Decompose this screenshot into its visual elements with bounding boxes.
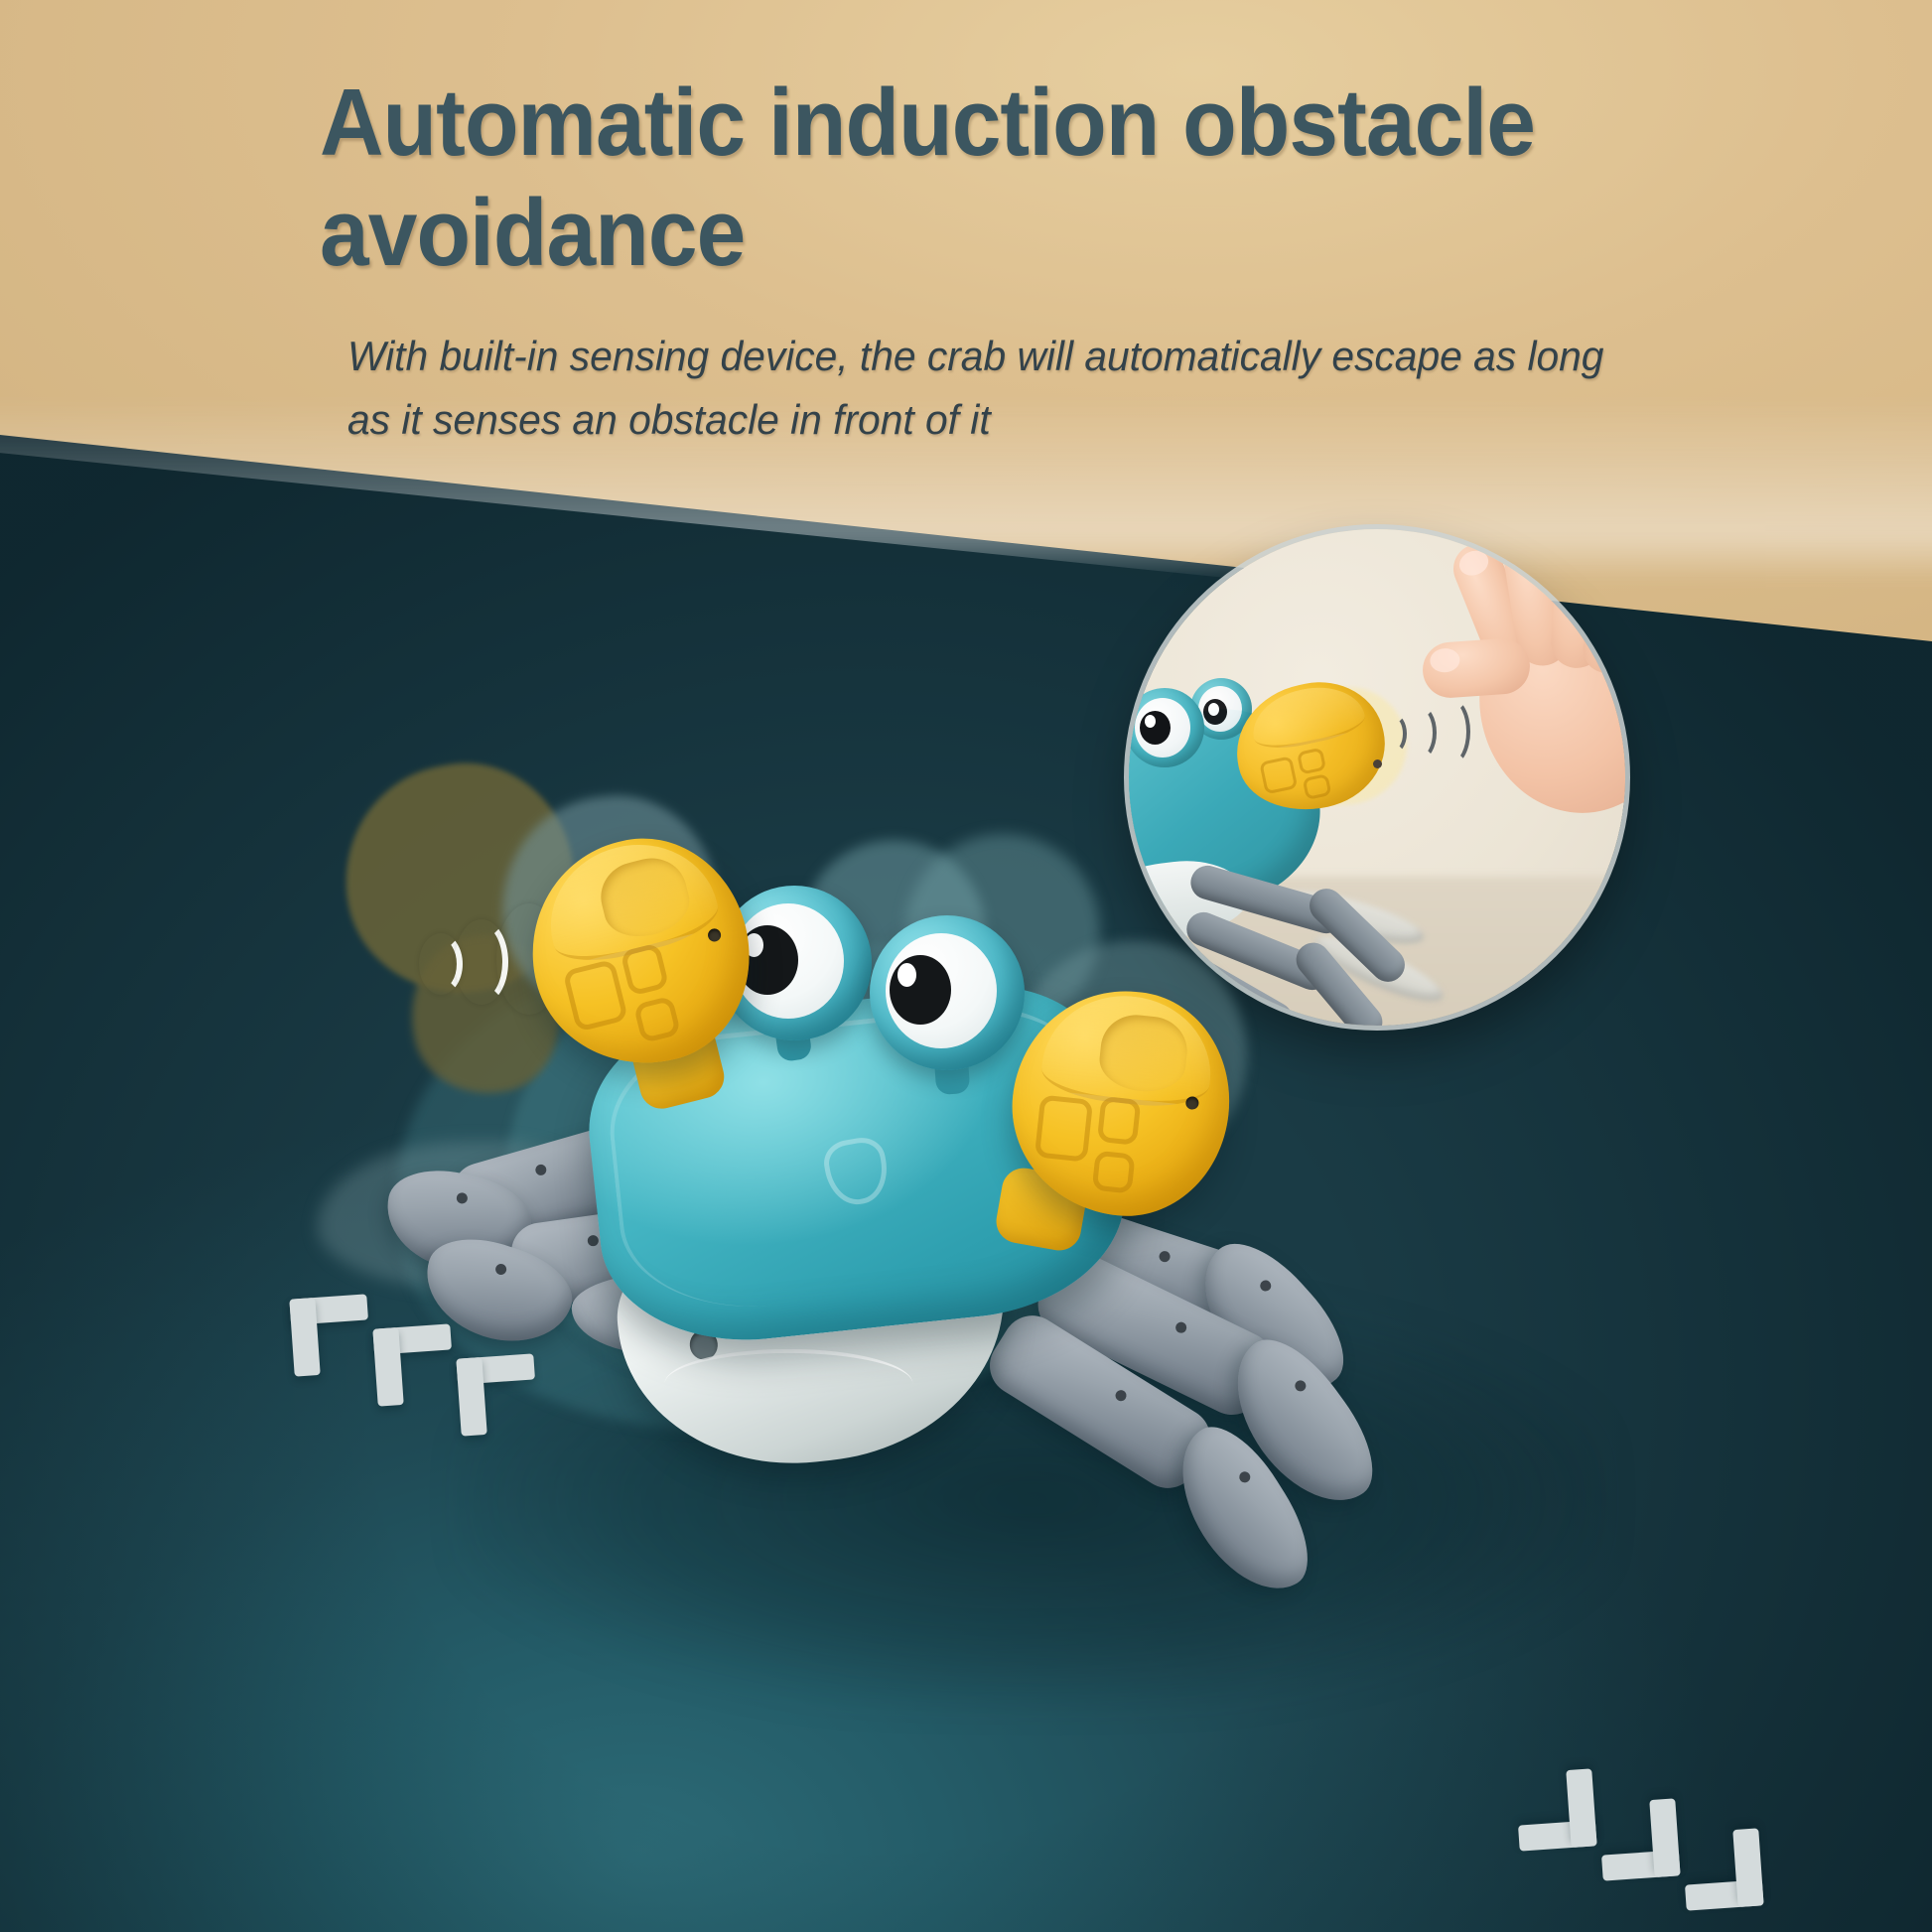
inset-claw-detail-3	[1303, 773, 1331, 799]
crab-eye-glint-right	[897, 963, 916, 987]
joint-dot	[494, 1262, 508, 1276]
claw-detail-left-3	[633, 995, 681, 1043]
inset-nail-ring	[1565, 542, 1596, 568]
inset-claw-detail-2	[1297, 747, 1326, 775]
chevron-right-icon-1	[1514, 1768, 1596, 1851]
inset-child-hand	[1377, 537, 1625, 835]
chevron-left-icon-2	[372, 1323, 455, 1406]
claw-detail-left-2	[621, 943, 669, 996]
copy-block: Automatic induction obstacle avoidance W…	[320, 68, 1670, 451]
chevron-left-icon-3	[456, 1353, 538, 1436]
joint-dot	[534, 1163, 548, 1176]
crab-eye-right	[870, 915, 1025, 1070]
joint-dot	[1258, 1278, 1274, 1294]
main-crab-toy	[328, 824, 1648, 1757]
chevron-right-icon-2	[1597, 1798, 1680, 1880]
joint-dot	[456, 1192, 469, 1205]
inset-nail-middle	[1509, 536, 1542, 564]
inset-eye-glint-left	[1145, 715, 1156, 728]
inset-claw-detail-1	[1259, 756, 1298, 794]
claw-detail-right-2	[1097, 1096, 1141, 1145]
joint-dot	[1114, 1388, 1129, 1403]
claw-detail-right-3	[1092, 1150, 1135, 1194]
inset-finger-thumb	[1421, 636, 1532, 699]
crab-pupil-right	[890, 955, 951, 1025]
product-feature-poster: Automatic induction obstacle avoidance W…	[0, 0, 1932, 1932]
page-title: Automatic induction obstacle avoidance	[320, 68, 1576, 289]
chevron-right-icon-3	[1681, 1828, 1763, 1910]
inset-eyeball-left	[1135, 698, 1190, 758]
inset-pupil-right	[1203, 699, 1227, 725]
claw-sensor-port-left	[707, 928, 723, 944]
claw-sensor-port-right	[1185, 1096, 1199, 1110]
joint-dot	[1237, 1470, 1252, 1485]
chevron-left-icon-1	[289, 1294, 371, 1376]
inset-eye-glint-right	[1208, 703, 1219, 716]
crab-eyeball-left	[733, 903, 844, 1019]
crab-eyeball-right	[886, 933, 997, 1048]
joint-dot	[1293, 1378, 1308, 1393]
joint-dot	[588, 1235, 600, 1247]
claw-detail-right-1	[1035, 1095, 1093, 1163]
inset-eyeball-right	[1198, 686, 1242, 732]
crab-belly-highlight	[664, 1349, 912, 1419]
inset-nail-thumb	[1430, 647, 1461, 673]
inset-claw-lid	[1246, 678, 1368, 756]
claw-detail-left-1	[563, 959, 628, 1033]
inset-nail-index	[1455, 546, 1492, 579]
page-subtitle: With built-in sensing device, the crab w…	[347, 325, 1630, 452]
inset-nail-pinky	[1606, 561, 1625, 592]
joint-dot	[1158, 1250, 1172, 1264]
inset-pupil-left	[1140, 711, 1171, 745]
joint-dot	[1173, 1319, 1188, 1334]
